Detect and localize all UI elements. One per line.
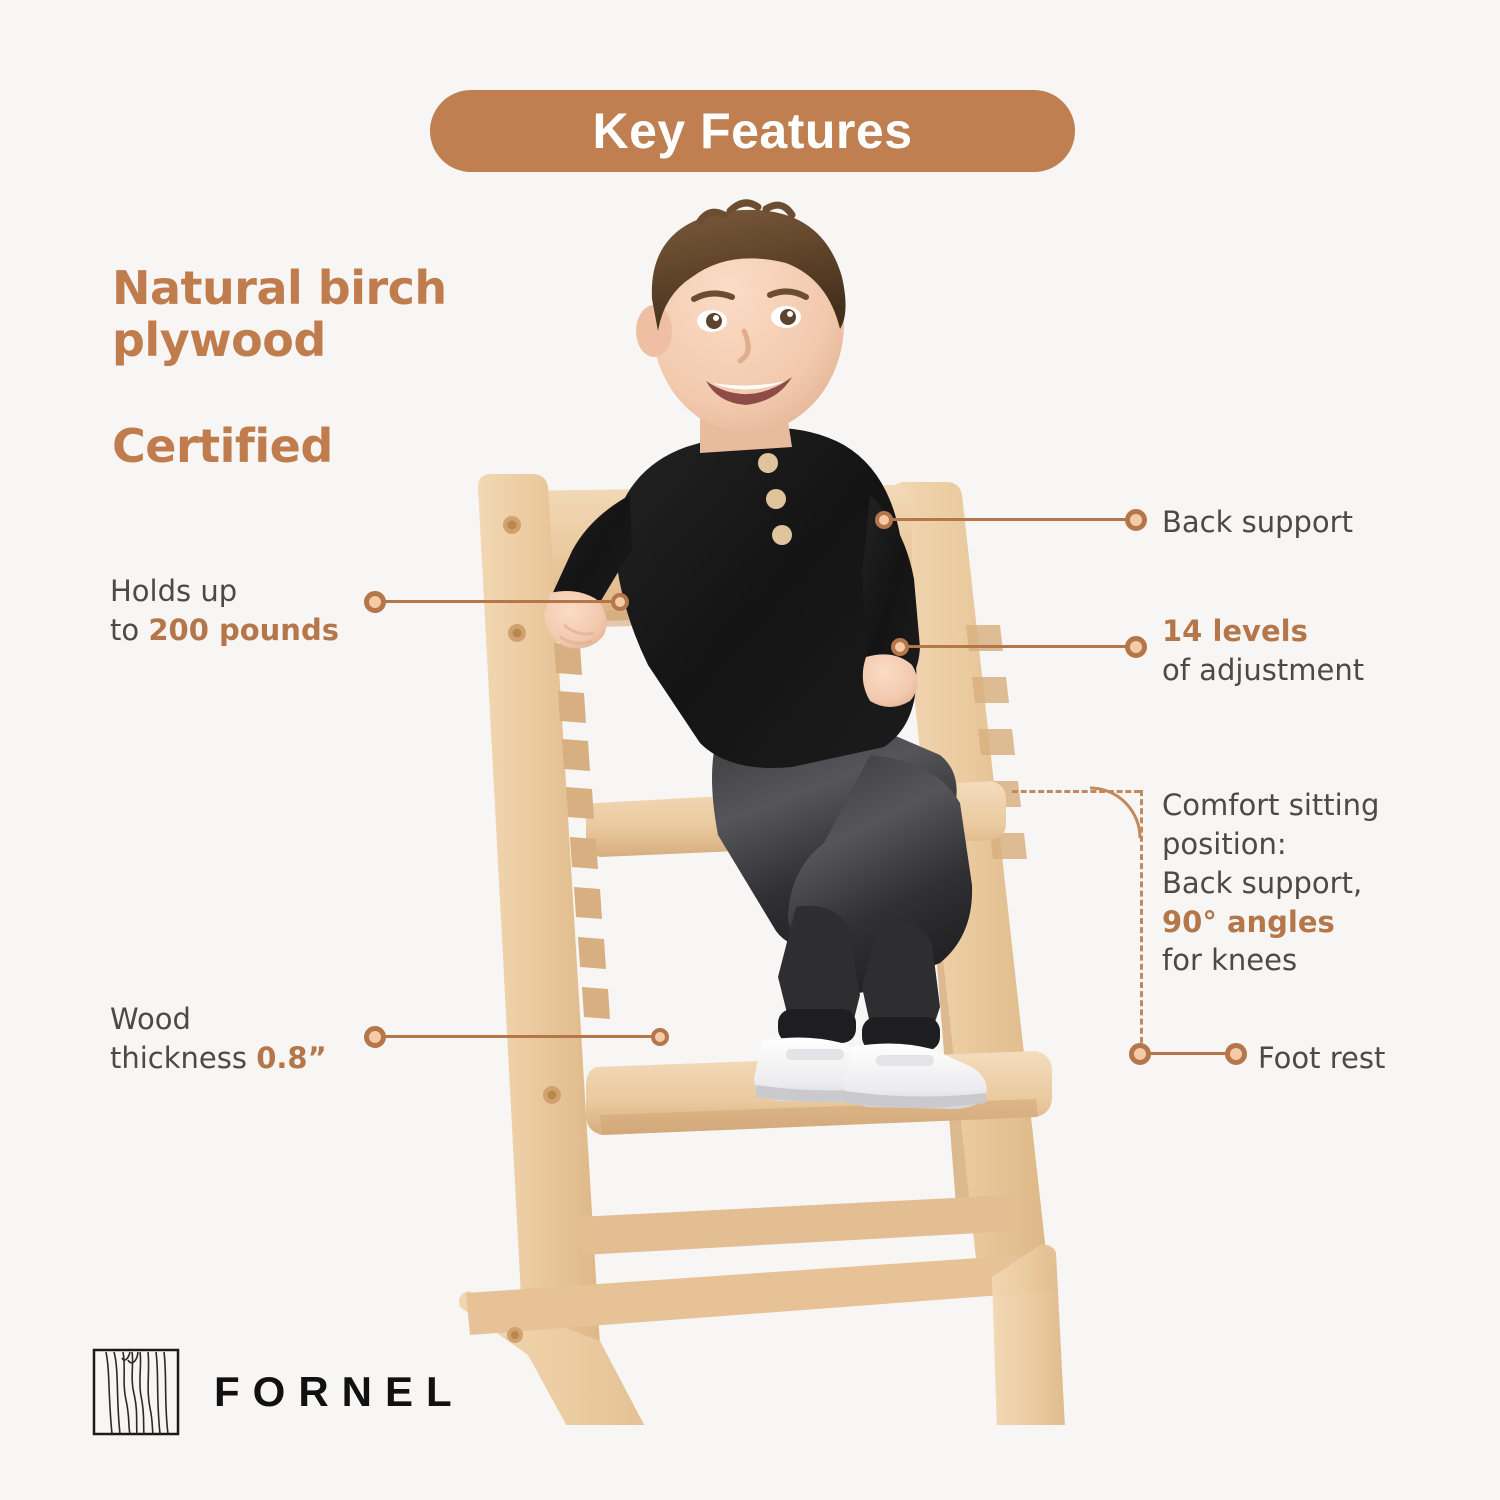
callout-holds-up-line2: to 200 pounds: [110, 611, 380, 650]
connector-dot-holds-up-anchor: [611, 593, 629, 611]
callout-wood-thickness-line1: Wood: [110, 1000, 380, 1039]
callout-levels: 14 levels of adjustment: [1162, 612, 1492, 690]
callout-comfort-line5: for knees: [1162, 941, 1492, 980]
infographic-canvas: Key Features Natural birch plywood Certi…: [0, 0, 1500, 1500]
connector-line-levels: [900, 645, 1136, 648]
callout-foot-rest-line1: Foot rest: [1258, 1039, 1498, 1078]
wood-grain-square-icon: [92, 1348, 180, 1436]
callout-comfort-position: Comfort sitting position: Back support, …: [1162, 786, 1492, 980]
callout-levels-value: 14 levels: [1162, 612, 1492, 651]
callout-comfort-line3: Back support,: [1162, 864, 1492, 903]
connector-line-wood-thickness: [375, 1035, 660, 1038]
callout-foot-rest: Foot rest: [1258, 1039, 1498, 1078]
connector-dot-foot-rest-label: [1225, 1043, 1247, 1065]
callout-wood-thickness-line2: thickness 0.8”: [110, 1039, 380, 1078]
connector-dot-levels-label: [1125, 636, 1147, 658]
connector-dot-wood-thickness-anchor: [651, 1028, 669, 1046]
callout-comfort-line2: position:: [1162, 825, 1492, 864]
connector-dot-back-support-anchor: [875, 511, 893, 529]
angle-arc-90-degrees: [1088, 786, 1148, 846]
callout-holds-up-prefix: to: [110, 613, 148, 647]
callout-holds-up-line1: Holds up: [110, 572, 380, 611]
connector-line-back-support: [884, 518, 1136, 521]
connector-dot-back-support-label: [1125, 509, 1147, 531]
callout-holds-up-value: 200 pounds: [148, 613, 339, 647]
callout-wood-thickness-value: 0.8”: [256, 1041, 326, 1075]
connector-dot-foot-rest-anchor: [1129, 1043, 1151, 1065]
brand-name: FORNEL: [214, 1368, 465, 1416]
callout-comfort-line1: Comfort sitting: [1162, 786, 1492, 825]
callout-levels-strong: 14 levels: [1162, 614, 1308, 648]
page-title: Key Features: [592, 102, 912, 160]
callout-comfort-angle-value: 90° angles: [1162, 905, 1335, 939]
callout-wood-thickness: Wood thickness 0.8”: [110, 1000, 380, 1078]
callout-comfort-angle-line: 90° angles: [1162, 903, 1492, 942]
callout-wood-thickness-prefix: thickness: [110, 1041, 256, 1075]
page-title-badge: Key Features: [430, 90, 1075, 172]
callout-back-support: Back support: [1162, 503, 1492, 542]
chair-cross-bar: [578, 1195, 1016, 1255]
brand-lockup: FORNEL: [92, 1348, 465, 1436]
connector-line-foot-rest: [1140, 1052, 1236, 1055]
callout-levels-suffix: of adjustment: [1162, 651, 1492, 690]
callout-holds-up: Holds up to 200 pounds: [110, 572, 380, 650]
connector-dot-levels-anchor: [891, 638, 909, 656]
connector-line-holds-up: [375, 600, 620, 603]
callout-back-support-line1: Back support: [1162, 503, 1492, 542]
product-photo: [400, 195, 1120, 1425]
